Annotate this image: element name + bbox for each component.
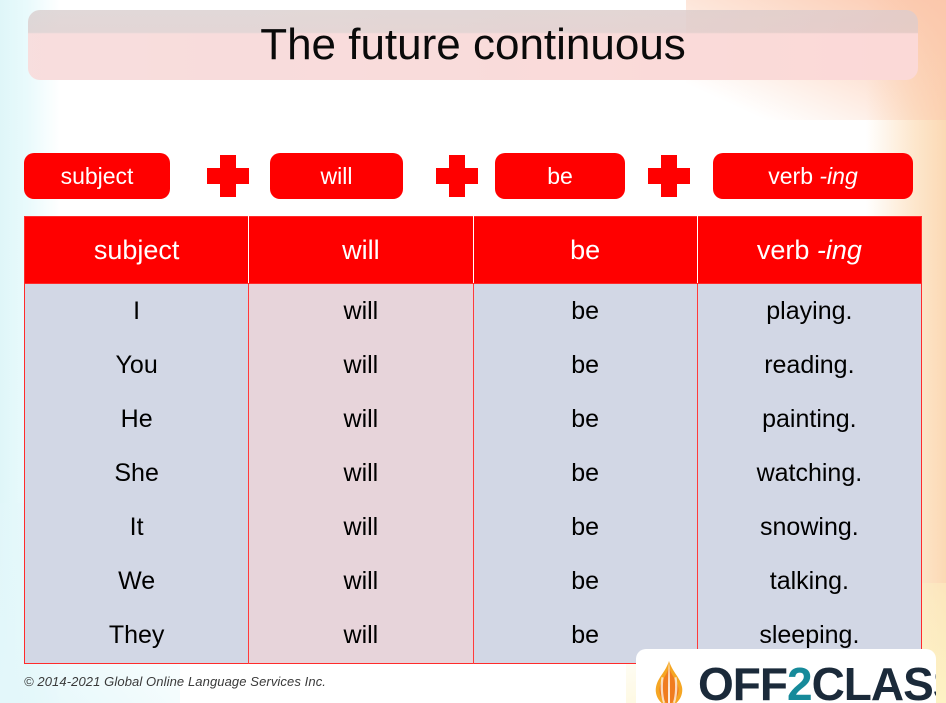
- table-cell: be: [473, 555, 697, 609]
- table-row: Hewillbepainting.: [25, 392, 922, 446]
- table-cell: snowing.: [697, 501, 921, 555]
- table-cell: be: [473, 284, 697, 339]
- table-header-be: be: [473, 217, 697, 284]
- footer-copyright: © 2014-2021 Global Online Language Servi…: [24, 674, 326, 689]
- table-cell: reading.: [697, 338, 921, 392]
- brand-wordmark-tail: CLASS: [812, 658, 936, 703]
- table-header-will: will: [249, 217, 473, 284]
- flame-icon: [646, 659, 692, 703]
- table-cell: She: [25, 446, 249, 500]
- table-cell: will: [249, 609, 473, 664]
- table-cell: will: [249, 284, 473, 339]
- formula-badge-will[interactable]: will: [270, 153, 403, 199]
- table-cell: painting.: [697, 392, 921, 446]
- table-cell: playing.: [697, 284, 921, 339]
- table-cell: be: [473, 338, 697, 392]
- table-cell: will: [249, 392, 473, 446]
- brand-wordmark-number: 2: [787, 658, 812, 703]
- conjugation-table: subject will be verb -ing Iwillbeplaying…: [24, 216, 922, 664]
- table-row: Itwillbesnowing.: [25, 501, 922, 555]
- plus-icon-3: [641, 153, 697, 199]
- table-cell: be: [473, 446, 697, 500]
- plus-icon: [648, 155, 690, 197]
- formula-badge-verb-italic: -ing: [819, 165, 857, 188]
- slide-canvas: The future continuous subject will be ve…: [0, 0, 946, 703]
- table-cell: You: [25, 338, 249, 392]
- formula-badge-verb-ing[interactable]: verb -ing: [713, 153, 913, 199]
- table-row: Iwillbeplaying.: [25, 284, 922, 339]
- table-header-verb-label: verb: [757, 235, 810, 265]
- table-header-verb-italic: -ing: [817, 235, 862, 265]
- table-row: Wewillbetalking.: [25, 555, 922, 609]
- table-cell: He: [25, 392, 249, 446]
- table-header: subject will be verb -ing: [25, 217, 922, 284]
- formula-badge-verb-label: verb: [768, 165, 813, 188]
- table-cell: It: [25, 501, 249, 555]
- brand-wordmark-main: OFF: [698, 658, 787, 703]
- table-header-subject: subject: [25, 217, 249, 284]
- formula-badge-be[interactable]: be: [495, 153, 625, 199]
- table-cell: will: [249, 338, 473, 392]
- plus-icon-2: [429, 153, 485, 199]
- table-cell: They: [25, 609, 249, 664]
- table-cell: be: [473, 392, 697, 446]
- table-cell: be: [473, 501, 697, 555]
- formula-badge-subject-label: subject: [61, 165, 134, 188]
- table-header-verb-ing: verb -ing: [697, 217, 921, 284]
- plus-icon: [436, 155, 478, 197]
- plus-icon: [207, 155, 249, 197]
- brand-logo: OFF2CLASS: [636, 649, 936, 703]
- table-cell: will: [249, 555, 473, 609]
- table-cell: will: [249, 501, 473, 555]
- table-row: Youwillbereading.: [25, 338, 922, 392]
- table-cell: We: [25, 555, 249, 609]
- formula-row: subject will be verb -ing: [24, 148, 922, 204]
- table-row: Shewillbewatching.: [25, 446, 922, 500]
- formula-badge-subject[interactable]: subject: [24, 153, 170, 199]
- formula-badge-will-label: will: [321, 165, 353, 188]
- table-cell: I: [25, 284, 249, 339]
- table-body: Iwillbeplaying.Youwillbereading.Hewillbe…: [25, 284, 922, 664]
- table-cell: watching.: [697, 446, 921, 500]
- plus-icon-1: [200, 153, 256, 199]
- table-header-row: subject will be verb -ing: [25, 217, 922, 284]
- table-cell: will: [249, 446, 473, 500]
- page-title: The future continuous: [28, 23, 918, 67]
- brand-wordmark: OFF2CLASS: [698, 661, 936, 703]
- formula-badge-be-label: be: [547, 165, 573, 188]
- table-cell: talking.: [697, 555, 921, 609]
- title-banner: The future continuous: [28, 10, 918, 80]
